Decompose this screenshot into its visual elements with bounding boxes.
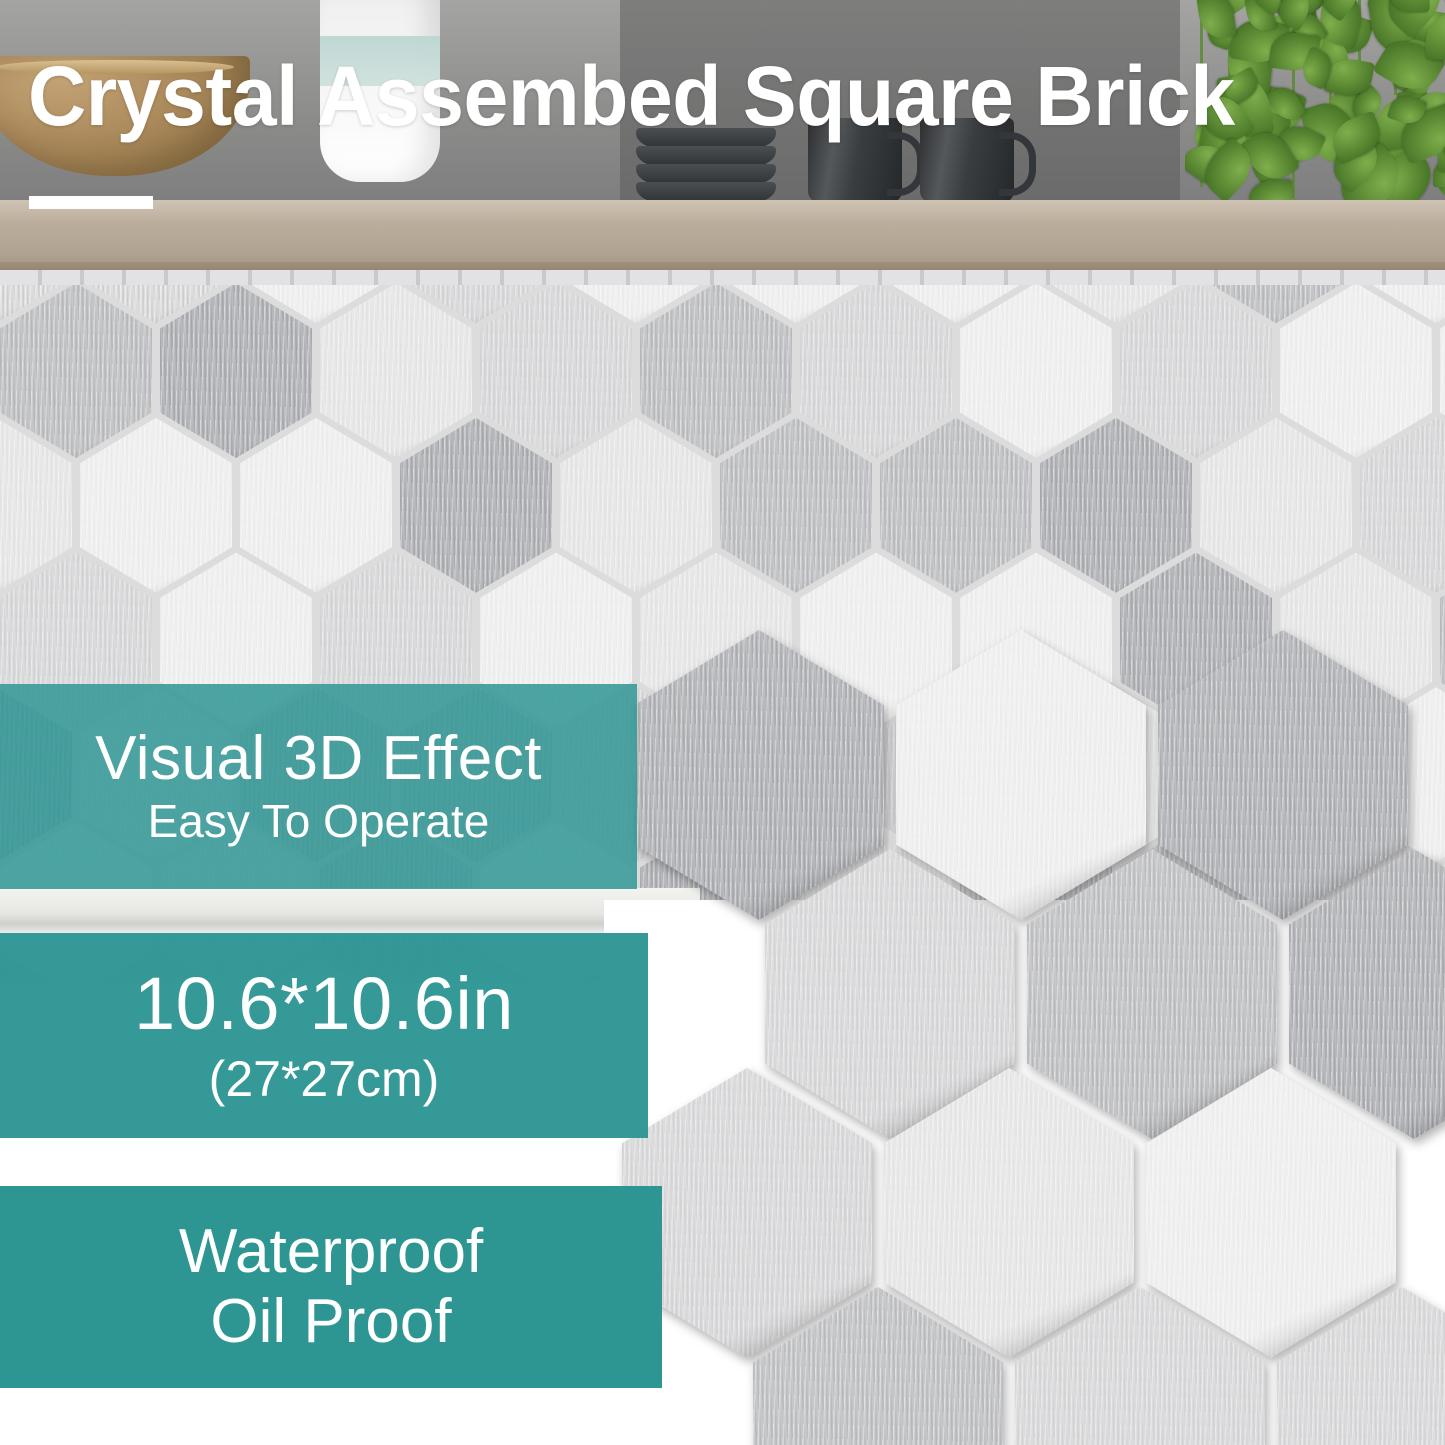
sample-hex-tile [1277,1287,1445,1445]
sample-hex-bevel [1015,1287,1265,1445]
page-title: Crystal Assembed Square Brick [28,48,1372,145]
title-underline [29,196,153,209]
feature-panel-2-line2: (27*27cm) [209,1053,440,1105]
feature-panel-tile-size: 10.6*10.6in (27*27cm) [0,933,648,1138]
sample-hex-tile [753,1287,1003,1445]
feature-panel-3-line2: Oil Proof [210,1290,451,1354]
feature-panel-waterproof: Waterproof Oil Proof [0,1186,662,1388]
sample-hex-bevel [1277,1287,1445,1445]
kitchen-counter [0,888,700,934]
feature-panel-2-line1: 10.6*10.6in [134,966,514,1043]
feature-panel-1-line2: Easy To Operate [148,798,490,846]
feature-panel-visual-3d-effect: Visual 3D Effect Easy To Operate [0,684,637,889]
sample-hex-tile [1015,1287,1265,1445]
hexagon-tile-sample [604,630,1445,1430]
feature-panel-1-line1: Visual 3D Effect [95,727,542,791]
sample-hex-face [1277,1287,1445,1445]
shelf-under-tiles [0,270,1445,285]
sample-hex-face [1015,1287,1265,1445]
sample-hex-face [753,1287,1003,1445]
feature-panel-3-line1: Waterproof [179,1220,483,1284]
product-banner: Crystal Assembed Square Brick Visual 3D … [0,0,1445,1445]
sample-hex-bevel [753,1287,1003,1445]
